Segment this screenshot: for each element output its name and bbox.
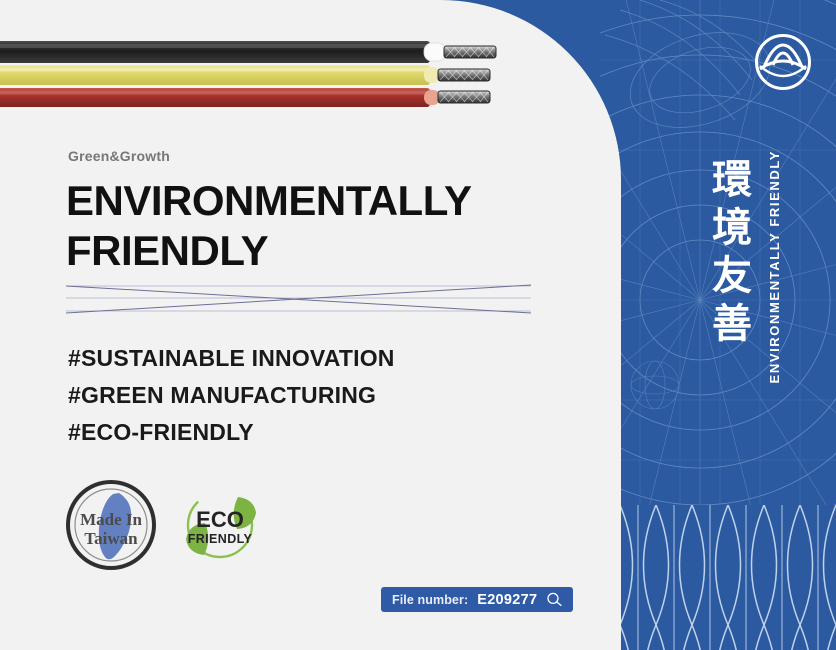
badge-text-eco: ECO [196, 507, 244, 532]
content-card: Green&Growth ENVIRONMENTALLY FRIENDLY #S… [0, 0, 621, 650]
cable-yellow [0, 65, 490, 85]
file-number-value: E209277 [477, 592, 537, 608]
hashtag-list: #SUSTAINABLE INNOVATION #GREEN MANUFACTU… [68, 340, 395, 451]
decorative-divider [66, 280, 531, 318]
headline-line-2: FRIENDLY [66, 226, 586, 276]
made-in-taiwan-badge-icon: Made In Taiwan [64, 478, 158, 572]
list-item: #ECO-FRIENDLY [68, 414, 395, 451]
company-logo-icon [754, 33, 812, 96]
page-title: ENVIRONMENTALLY FRIENDLY [66, 176, 586, 276]
file-number-badge[interactable]: File number: E209277 [381, 587, 573, 612]
chinese-vertical-title: 環境友善 [700, 158, 756, 350]
poster-canvas: Green&Growth ENVIRONMENTALLY FRIENDLY #S… [0, 0, 836, 650]
english-vertical-title: ENVIRONMENTALLY FRIENDLY [767, 150, 783, 383]
list-item: #GREEN MANUFACTURING [68, 377, 395, 414]
badge-text-friendly: FRIENDLY [188, 532, 253, 546]
badge-text-line1: Made In [80, 510, 142, 529]
badge-text-line2: Taiwan [84, 529, 138, 548]
certification-badges: Made In Taiwan ECO FRIENDLY [64, 478, 264, 572]
cable-red [0, 88, 490, 107]
search-icon[interactable] [546, 592, 563, 607]
file-number-label: File number: [392, 593, 468, 607]
eyebrow-label: Green&Growth [68, 148, 170, 164]
headline-line-1: ENVIRONMENTALLY [66, 176, 586, 226]
cable-black [0, 41, 496, 63]
list-item: #SUSTAINABLE INNOVATION [68, 340, 395, 377]
cable-illustration [0, 20, 530, 120]
eco-friendly-badge-icon: ECO FRIENDLY [180, 481, 264, 569]
